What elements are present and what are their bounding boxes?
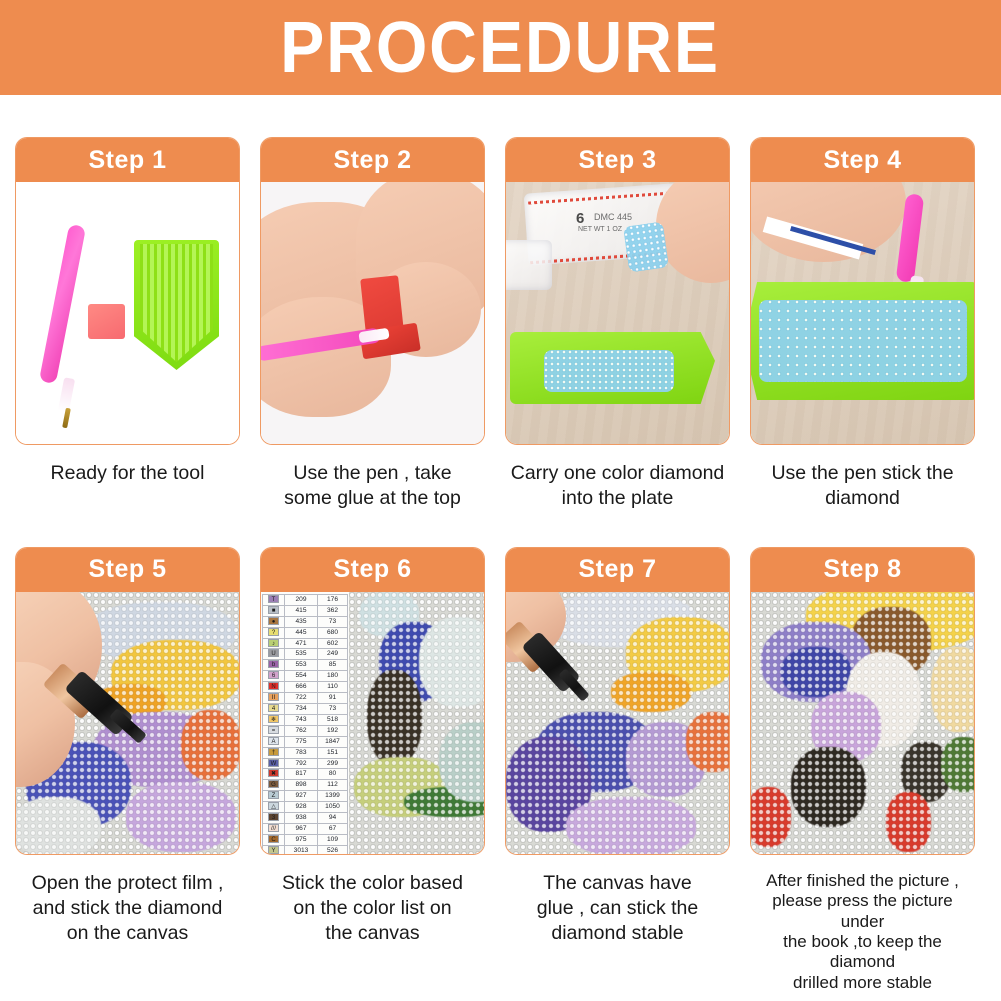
color-chart-panel: T209176■415362●43573?445680♪471602U53524… bbox=[261, 592, 349, 854]
step-cell-5: Step 5 bbox=[15, 547, 240, 993]
color-code-cell: 3013 bbox=[285, 845, 318, 854]
step-image-3: 6 DMC 445 NET WT 1 OZ bbox=[506, 182, 729, 444]
canvas-mosaic-panel bbox=[349, 592, 484, 854]
color-swatch-symbol: △ bbox=[268, 802, 279, 810]
step-caption-1: Ready for the tool bbox=[15, 461, 240, 486]
color-swatch-symbol: C bbox=[268, 835, 279, 843]
color-chart-row: G898112 bbox=[263, 780, 348, 791]
diamond-canvas-mosaic bbox=[16, 592, 239, 854]
color-symbol-cell: b bbox=[263, 660, 285, 671]
color-code-cell: 898 bbox=[285, 780, 318, 791]
color-chart-row: 6554180 bbox=[263, 671, 348, 682]
page-title: PROCEDURE bbox=[281, 12, 721, 84]
bag-label-number: 6 bbox=[576, 210, 584, 227]
color-symbol-cell: U bbox=[263, 649, 285, 660]
color-symbol-cell: 6 bbox=[263, 671, 285, 682]
color-swatch-symbol: = bbox=[268, 726, 279, 734]
step-image-8 bbox=[751, 592, 974, 854]
color-swatch-symbol: ✖ bbox=[268, 769, 279, 777]
color-swatch-symbol: Z bbox=[268, 791, 279, 799]
step-caption-4: Use the pen stick the diamond bbox=[750, 461, 975, 511]
color-code-cell: 928 bbox=[285, 802, 318, 813]
color-swatch-symbol: ● bbox=[268, 617, 279, 625]
step-caption-6: Stick the color based on the color list … bbox=[260, 871, 485, 946]
color-count-cell: 85 bbox=[318, 660, 348, 671]
color-list-and-canvas: T209176■415362●43573?445680♪471602U53524… bbox=[261, 592, 484, 854]
step-cell-6: Step 6 T209176■415362●43573?445680♪47160… bbox=[260, 547, 485, 993]
color-symbol-cell: G bbox=[263, 780, 285, 791]
color-code-cell: 817 bbox=[285, 769, 318, 780]
color-chart-row: ●43573 bbox=[263, 616, 348, 627]
color-symbol-cell: △ bbox=[263, 802, 285, 813]
step-card-2[interactable]: Step 2 bbox=[260, 137, 485, 445]
color-swatch-symbol: Y bbox=[268, 846, 279, 854]
color-swatch-symbol: b bbox=[268, 660, 279, 668]
step-header-5: Step 5 bbox=[16, 548, 239, 592]
step-header-label-2: Step 2 bbox=[333, 146, 411, 175]
step-header-label-4: Step 4 bbox=[823, 146, 901, 175]
color-code-cell: 415 bbox=[285, 605, 318, 616]
color-chart-row: ✖81780 bbox=[263, 769, 348, 780]
step-cell-2: Step 2 Use the pen , take some glu bbox=[260, 137, 485, 511]
pick-diamond-photo bbox=[751, 182, 974, 444]
step-header-label-3: Step 3 bbox=[578, 146, 656, 175]
step-card-1[interactable]: Step 1 bbox=[15, 137, 240, 445]
falling-diamonds bbox=[623, 221, 669, 272]
color-swatch-symbol: G bbox=[268, 780, 279, 788]
step-card-6[interactable]: Step 6 T209176■415362●43573?445680♪47160… bbox=[260, 547, 485, 855]
color-count-cell: 362 bbox=[318, 605, 348, 616]
color-swatch-symbol: ■ bbox=[268, 606, 279, 614]
color-swatch-symbol: II bbox=[268, 693, 279, 701]
color-chart-row: Z9271399 bbox=[263, 791, 348, 802]
glue-clay-icon bbox=[88, 304, 125, 339]
color-swatch-symbol: 4 bbox=[268, 704, 279, 712]
step-header-4: Step 4 bbox=[751, 138, 974, 182]
color-swatch-symbol: A bbox=[268, 737, 279, 745]
step-cell-8: Step 8 bbox=[750, 547, 975, 993]
bag-label-line2: NET WT 1 OZ bbox=[578, 226, 622, 233]
step-cell-1: Step 1 Ready for the tool bbox=[15, 137, 240, 511]
color-code-cell: 535 bbox=[285, 649, 318, 660]
color-code-cell: 927 bbox=[285, 791, 318, 802]
color-code-cell: 762 bbox=[285, 725, 318, 736]
diamond-canvas-mosaic bbox=[349, 592, 484, 854]
color-count-cell: 109 bbox=[318, 834, 348, 845]
step-card-4[interactable]: Step 4 bbox=[750, 137, 975, 445]
color-code-cell: 554 bbox=[285, 671, 318, 682]
color-code-cell: 967 bbox=[285, 823, 318, 834]
color-symbol-cell: Z bbox=[263, 791, 285, 802]
finished-painting-mosaic bbox=[751, 592, 974, 854]
color-chart-row: =762192 bbox=[263, 725, 348, 736]
color-code-cell: 209 bbox=[285, 594, 318, 605]
color-symbol-cell: ■ bbox=[263, 605, 285, 616]
step-image-5 bbox=[16, 592, 239, 854]
color-count-cell: 299 bbox=[318, 758, 348, 769]
step-image-4 bbox=[751, 182, 974, 444]
step-header-7: Step 7 bbox=[506, 548, 729, 592]
color-code-cell: 445 bbox=[285, 627, 318, 638]
step-header-8: Step 8 bbox=[751, 548, 974, 592]
steps-row-top: Step 1 Ready for the tool bbox=[15, 137, 986, 511]
color-code-cell: 975 bbox=[285, 834, 318, 845]
color-count-cell: 73 bbox=[318, 703, 348, 714]
color-symbol-cell: II bbox=[263, 693, 285, 704]
color-count-cell: 80 bbox=[318, 769, 348, 780]
color-swatch-symbol: /// bbox=[268, 824, 279, 832]
step-card-7[interactable]: Step 7 bbox=[505, 547, 730, 855]
step-header-6: Step 6 bbox=[261, 548, 484, 592]
step-cell-7: Step 7 bbox=[505, 547, 730, 993]
color-count-cell: 176 bbox=[318, 594, 348, 605]
color-code-cell: 792 bbox=[285, 758, 318, 769]
step-header-3: Step 3 bbox=[506, 138, 729, 182]
mosaic-bead-texture bbox=[349, 592, 484, 854]
color-code-cell: 734 bbox=[285, 703, 318, 714]
color-count-cell: 91 bbox=[318, 693, 348, 704]
color-symbol-cell: ● bbox=[263, 616, 285, 627]
step-card-8[interactable]: Step 8 bbox=[750, 547, 975, 855]
step-image-6: T209176■415362●43573?445680♪471602U53524… bbox=[261, 592, 484, 854]
step-header-label-5: Step 5 bbox=[88, 555, 166, 584]
diamond-canvas-mosaic bbox=[506, 592, 729, 854]
color-chart-row: △9281050 bbox=[263, 802, 348, 813]
color-chart-row: ■415362 bbox=[263, 605, 348, 616]
steps-grid: Step 1 Ready for the tool bbox=[0, 137, 1001, 993]
color-symbol-cell: ♪ bbox=[263, 638, 285, 649]
color-code-cell: 783 bbox=[285, 747, 318, 758]
color-chart-row: N666110 bbox=[263, 682, 348, 693]
color-chart-row: T209176 bbox=[263, 594, 348, 605]
step-cell-4: Step 4 Use the pen st bbox=[750, 137, 975, 511]
tray-diamonds bbox=[544, 350, 674, 392]
color-count-cell: 602 bbox=[318, 638, 348, 649]
color-count-cell: 1847 bbox=[318, 736, 348, 747]
color-symbol-cell: ? bbox=[263, 627, 285, 638]
color-symbol-cell: = bbox=[263, 725, 285, 736]
color-chart-row: II72291 bbox=[263, 693, 348, 704]
color-chart-row: ///96767 bbox=[263, 823, 348, 834]
color-swatch-symbol: ♪ bbox=[268, 639, 279, 647]
step-header-label-7: Step 7 bbox=[578, 555, 656, 584]
color-swatch-symbol: W bbox=[268, 759, 279, 767]
step-image-2 bbox=[261, 182, 484, 444]
color-count-cell: 151 bbox=[318, 747, 348, 758]
step-cell-3: Step 3 6 DMC 445 NET WT 1 OZ bbox=[505, 137, 730, 511]
bag-label-line1: DMC 445 bbox=[594, 212, 632, 222]
color-code-cell: 743 bbox=[285, 714, 318, 725]
color-code-cell: 722 bbox=[285, 693, 318, 704]
color-code-cell: 666 bbox=[285, 682, 318, 693]
step-card-3[interactable]: Step 3 6 DMC 445 NET WT 1 OZ bbox=[505, 137, 730, 445]
color-count-cell: 1050 bbox=[318, 802, 348, 813]
color-swatch-symbol: † bbox=[268, 748, 279, 756]
step-caption-8: After finished the picture , please pres… bbox=[750, 871, 975, 993]
second-bag-icon bbox=[506, 240, 552, 290]
color-code-cell: 775 bbox=[285, 736, 318, 747]
step-header-1: Step 1 bbox=[16, 138, 239, 182]
color-symbol-cell: /// bbox=[263, 823, 285, 834]
color-symbol-cell: 3 bbox=[263, 813, 285, 824]
color-symbol-cell: T bbox=[263, 594, 285, 605]
pour-diamonds-photo: 6 DMC 445 NET WT 1 OZ bbox=[506, 182, 729, 444]
color-count-cell: 180 bbox=[318, 671, 348, 682]
color-swatch-symbol: ? bbox=[268, 628, 279, 636]
color-swatch-symbol: N bbox=[268, 682, 279, 690]
color-symbol-cell: ✖ bbox=[263, 769, 285, 780]
color-code-cell: 471 bbox=[285, 638, 318, 649]
color-chart-row: 473473 bbox=[263, 703, 348, 714]
step-caption-3: Carry one color diamond into the plate bbox=[505, 461, 730, 511]
color-chart-row: †783151 bbox=[263, 747, 348, 758]
step-card-5[interactable]: Step 5 bbox=[15, 547, 240, 855]
color-count-cell: 1399 bbox=[318, 791, 348, 802]
color-swatch-symbol: ❄ bbox=[268, 715, 279, 723]
color-chart-table: T209176■415362●43573?445680♪471602U53524… bbox=[262, 594, 348, 854]
color-count-cell: 110 bbox=[318, 682, 348, 693]
color-swatch-symbol: 6 bbox=[268, 671, 279, 679]
color-symbol-cell: Y bbox=[263, 845, 285, 854]
steps-row-bottom: Step 5 bbox=[15, 547, 986, 993]
color-count-cell: 67 bbox=[318, 823, 348, 834]
tools-illustration bbox=[16, 182, 239, 444]
tray-diamonds bbox=[759, 300, 967, 382]
color-chart-row: C975109 bbox=[263, 834, 348, 845]
color-symbol-cell: 4 bbox=[263, 703, 285, 714]
color-chart-body: T209176■415362●43573?445680♪471602U53524… bbox=[263, 594, 348, 854]
color-count-cell: 518 bbox=[318, 714, 348, 725]
color-chart-row: U535249 bbox=[263, 649, 348, 660]
color-chart-row: A7751847 bbox=[263, 736, 348, 747]
color-count-cell: 526 bbox=[318, 845, 348, 854]
step-caption-7: The canvas have glue , can stick the dia… bbox=[505, 871, 730, 946]
color-symbol-cell: N bbox=[263, 682, 285, 693]
color-chart-row: b55385 bbox=[263, 660, 348, 671]
page-header-banner: PROCEDURE bbox=[0, 0, 1001, 95]
step-header-label-8: Step 8 bbox=[823, 555, 901, 584]
color-symbol-cell: W bbox=[263, 758, 285, 769]
pink-pen-icon bbox=[39, 224, 86, 384]
color-code-cell: 553 bbox=[285, 660, 318, 671]
color-chart-row: ?445680 bbox=[263, 627, 348, 638]
color-chart-row: Y3013526 bbox=[263, 845, 348, 854]
color-chart-row: 393894 bbox=[263, 813, 348, 824]
color-code-cell: 435 bbox=[285, 616, 318, 627]
step-caption-5: Open the protect film , and stick the di… bbox=[15, 871, 240, 946]
step-caption-2: Use the pen , take some glue at the top bbox=[260, 461, 485, 511]
color-count-cell: 680 bbox=[318, 627, 348, 638]
mosaic-bead-texture bbox=[751, 592, 974, 854]
color-symbol-cell: A bbox=[263, 736, 285, 747]
hands-glue-photo bbox=[261, 182, 484, 444]
color-symbol-cell: † bbox=[263, 747, 285, 758]
color-count-cell: 192 bbox=[318, 725, 348, 736]
color-count-cell: 73 bbox=[318, 616, 348, 627]
color-symbol-cell: C bbox=[263, 834, 285, 845]
color-count-cell: 249 bbox=[318, 649, 348, 660]
color-swatch-symbol: T bbox=[268, 595, 279, 603]
color-chart-row: ♪471602 bbox=[263, 638, 348, 649]
step-image-1 bbox=[16, 182, 239, 444]
step-header-label-6: Step 6 bbox=[333, 555, 411, 584]
color-count-cell: 112 bbox=[318, 780, 348, 791]
color-chart-row: ❄743518 bbox=[263, 714, 348, 725]
color-count-cell: 94 bbox=[318, 813, 348, 824]
step-header-2: Step 2 bbox=[261, 138, 484, 182]
color-symbol-cell: ❄ bbox=[263, 714, 285, 725]
color-chart-row: W792299 bbox=[263, 758, 348, 769]
step-header-label-1: Step 1 bbox=[88, 146, 166, 175]
color-swatch-symbol: U bbox=[268, 649, 279, 657]
color-swatch-symbol: 3 bbox=[268, 813, 279, 821]
step-image-7 bbox=[506, 592, 729, 854]
color-code-cell: 938 bbox=[285, 813, 318, 824]
